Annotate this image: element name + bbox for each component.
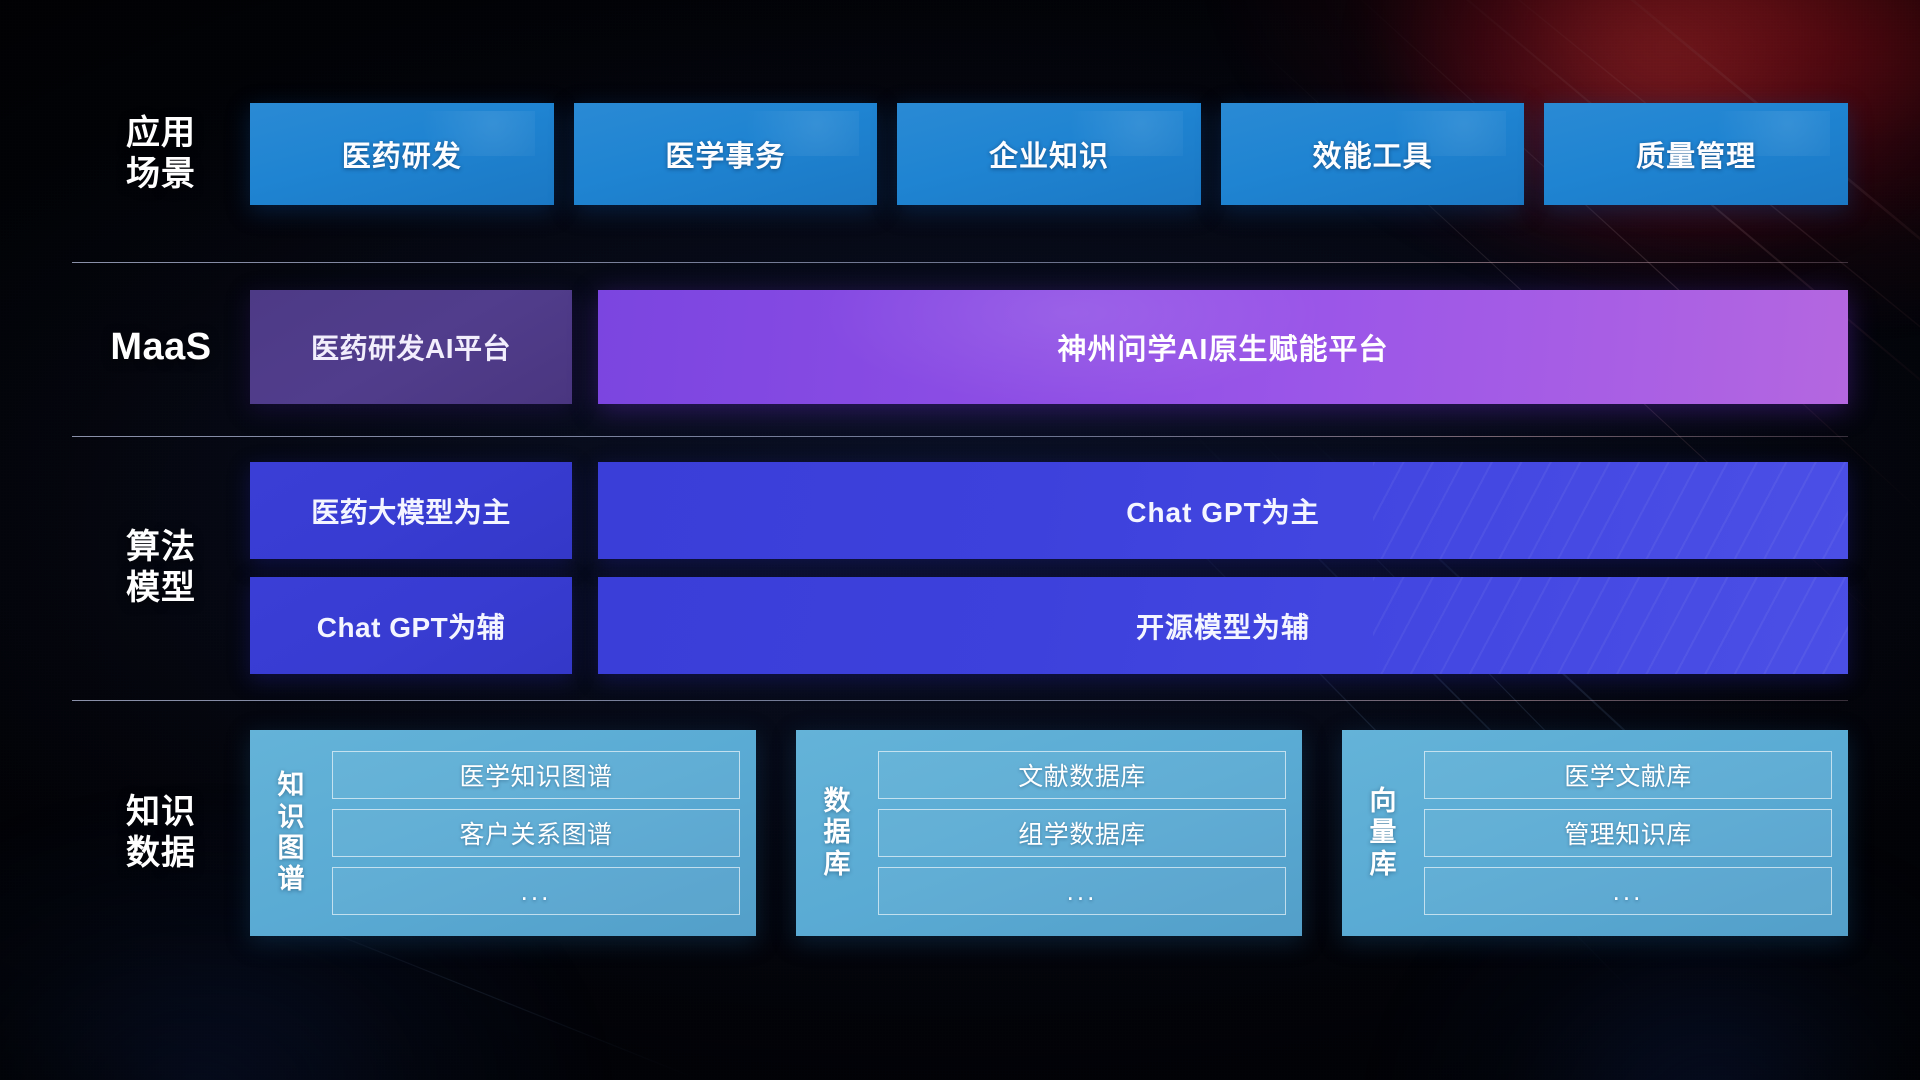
app-card-label: 企业知识 bbox=[989, 133, 1109, 175]
divider-after-application-scenarios bbox=[72, 262, 1848, 263]
algo-card-pharma-large-model-primary[interactable]: 医药大模型为主 bbox=[250, 462, 572, 559]
app-card-quality-management[interactable]: 质量管理 bbox=[1544, 103, 1848, 205]
knowledge-item-label: 客户关系图谱 bbox=[459, 815, 612, 851]
knowledge-panel-grid: 知​识​图​谱 医学知识图谱 客户关系图谱 ... 数​据​库 文献数据库 组学… bbox=[250, 730, 1848, 936]
knowledge-item-list: 医学文献库 管理知识库 ... bbox=[1424, 751, 1832, 915]
row-label-application-scenarios: 应用 场景 bbox=[72, 113, 250, 196]
app-card-label: 效能工具 bbox=[1313, 133, 1433, 175]
knowledge-item-customer-relation-graph[interactable]: 客户关系图谱 bbox=[332, 809, 740, 857]
knowledge-item-label: ... bbox=[521, 876, 552, 907]
knowledge-item-omics-database[interactable]: 组学数据库 bbox=[878, 809, 1286, 857]
knowledge-item-label: 管理知识库 bbox=[1564, 815, 1692, 851]
knowledge-panel-title-database: 数​据​库 bbox=[806, 786, 868, 880]
app-card-medicine-rd[interactable]: 医药研发 bbox=[250, 103, 554, 205]
algo-card-label: Chat GPT为主 bbox=[1126, 491, 1320, 531]
algo-card-chatgpt-primary[interactable]: Chat GPT为主 bbox=[598, 462, 1848, 559]
row-knowledge-data: 知识 数据 知​识​图​谱 医学知识图谱 客户关系图谱 ... 数​据​库 文献… bbox=[72, 730, 1848, 936]
knowledge-item-list: 医学知识图谱 客户关系图谱 ... bbox=[332, 751, 740, 915]
application-card-grid: 医药研发 医学事务 企业知识 效能工具 质量管理 bbox=[250, 103, 1848, 205]
algo-card-label: 医药大模型为主 bbox=[311, 491, 511, 531]
divider-after-algorithm-model bbox=[72, 700, 1848, 701]
algo-card-label: 开源模型为辅 bbox=[1136, 606, 1310, 646]
app-card-efficiency-tools[interactable]: 效能工具 bbox=[1221, 103, 1525, 205]
knowledge-item-list: 文献数据库 组学数据库 ... bbox=[878, 751, 1286, 915]
maas-card-label: 神州问学AI原生赋能平台 bbox=[1057, 326, 1388, 368]
app-card-enterprise-knowledge[interactable]: 企业知识 bbox=[897, 103, 1201, 205]
app-card-label: 质量管理 bbox=[1636, 133, 1756, 175]
knowledge-item-label: ... bbox=[1067, 876, 1098, 907]
row-body-knowledge-data: 知​识​图​谱 医学知识图谱 客户关系图谱 ... 数​据​库 文献数据库 组学… bbox=[250, 730, 1848, 936]
app-card-label: 医药研发 bbox=[342, 133, 462, 175]
knowledge-item-label: 医学文献库 bbox=[1564, 757, 1692, 793]
row-body-maas: 医药研发AI平台 神州问学AI原生赋能平台 bbox=[250, 290, 1848, 404]
maas-card-label: 医药研发AI平台 bbox=[311, 327, 511, 367]
knowledge-item-label: 组学数据库 bbox=[1018, 815, 1146, 851]
maas-card-pharma-ai-platform[interactable]: 医药研发AI平台 bbox=[250, 290, 572, 404]
algo-card-label: Chat GPT为辅 bbox=[317, 606, 506, 646]
algorithm-line-secondary: Chat GPT为辅 开源模型为辅 bbox=[250, 577, 1848, 674]
row-algorithm-model: 算法 模型 医药大模型为主 Chat GPT为主 Chat GPT为辅 开源模型… bbox=[72, 462, 1848, 674]
knowledge-item-label: 医学知识图谱 bbox=[459, 757, 612, 793]
knowledge-item-more[interactable]: ... bbox=[1424, 867, 1832, 915]
knowledge-item-medical-literature-store[interactable]: 医学文献库 bbox=[1424, 751, 1832, 799]
knowledge-item-more[interactable]: ... bbox=[332, 867, 740, 915]
knowledge-item-more[interactable]: ... bbox=[878, 867, 1286, 915]
row-application-scenarios: 应用 场景 医药研发 医学事务 企业知识 效能工具 质量管理 bbox=[72, 102, 1848, 206]
knowledge-panel-database: 数​据​库 文献数据库 组学数据库 ... bbox=[796, 730, 1302, 936]
knowledge-panel-vector-store: 向​量​库 医学文献库 管理知识库 ... bbox=[1342, 730, 1848, 936]
algorithm-line-primary: 医药大模型为主 Chat GPT为主 bbox=[250, 462, 1848, 559]
algo-card-opensource-secondary[interactable]: 开源模型为辅 bbox=[598, 577, 1848, 674]
maas-grid: 医药研发AI平台 神州问学AI原生赋能平台 bbox=[250, 290, 1848, 404]
algo-card-chatgpt-secondary[interactable]: Chat GPT为辅 bbox=[250, 577, 572, 674]
row-label-algorithm-model: 算法 模型 bbox=[72, 527, 250, 610]
knowledge-panel-title-knowledge-graph: 知​识​图​谱 bbox=[260, 770, 322, 895]
knowledge-item-medical-knowledge-graph[interactable]: 医学知识图谱 bbox=[332, 751, 740, 799]
app-card-label: 医学事务 bbox=[665, 133, 785, 175]
row-label-maas: MaaS bbox=[72, 324, 250, 370]
row-maas: MaaS 医药研发AI平台 神州问学AI原生赋能平台 bbox=[72, 290, 1848, 404]
architecture-diagram: 应用 场景 医药研发 医学事务 企业知识 效能工具 质量管理 MaaS 医药研发… bbox=[0, 0, 1920, 1080]
divider-after-maas bbox=[72, 436, 1848, 437]
knowledge-panel-knowledge-graph: 知​识​图​谱 医学知识图谱 客户关系图谱 ... bbox=[250, 730, 756, 936]
knowledge-panel-title-vector-store: 向​量​库 bbox=[1352, 786, 1414, 880]
knowledge-item-management-knowledge-store[interactable]: 管理知识库 bbox=[1424, 809, 1832, 857]
knowledge-item-literature-database[interactable]: 文献数据库 bbox=[878, 751, 1286, 799]
knowledge-item-label: 文献数据库 bbox=[1018, 757, 1146, 793]
algorithm-card-stack: 医药大模型为主 Chat GPT为主 Chat GPT为辅 开源模型为辅 bbox=[250, 462, 1848, 674]
row-body-application-scenarios: 医药研发 医学事务 企业知识 效能工具 质量管理 bbox=[250, 103, 1848, 205]
app-card-medical-affairs[interactable]: 医学事务 bbox=[574, 103, 878, 205]
row-label-knowledge-data: 知识 数据 bbox=[72, 792, 250, 875]
maas-card-shenzhou-wenxue-platform[interactable]: 神州问学AI原生赋能平台 bbox=[598, 290, 1848, 404]
row-body-algorithm-model: 医药大模型为主 Chat GPT为主 Chat GPT为辅 开源模型为辅 bbox=[250, 462, 1848, 674]
knowledge-item-label: ... bbox=[1613, 876, 1644, 907]
